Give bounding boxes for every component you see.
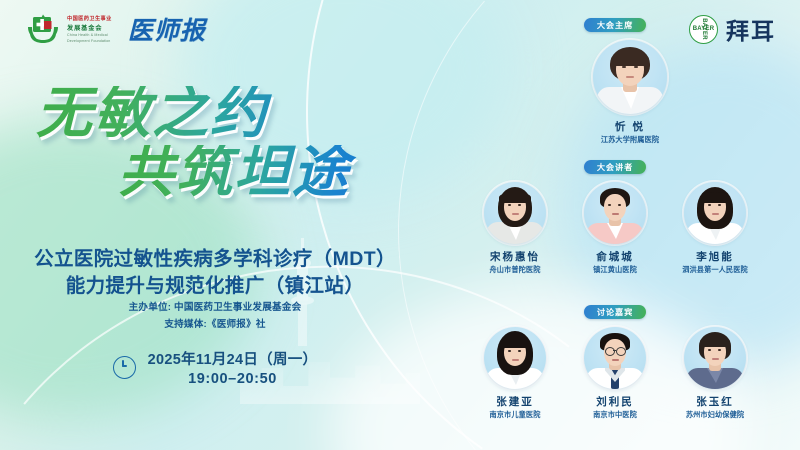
event-date: 2025年11月24日（周一） — [148, 348, 318, 369]
avatar — [584, 182, 646, 244]
group-badge-discussants: 讨论嘉宾 — [584, 305, 646, 319]
person-org: 舟山市普陀医院 — [465, 265, 565, 275]
person-org: 南京市中医院 — [565, 410, 665, 420]
avatar — [584, 327, 646, 389]
hero-title-line2: 共筑坦途 — [118, 145, 430, 200]
people-panel: 大会主席 忻 悦 江苏大学附属医院 — [430, 0, 800, 450]
foundation-logo-text: 中国医药卫生事业 发展基金会 China Health & Medical De… — [67, 15, 112, 44]
group-chair: 大会主席 忻 悦 江苏大学附属医院 — [430, 18, 800, 145]
supporting-media-text: 支持媒体:《医师报》社 — [0, 317, 430, 334]
person-card[interactable]: 张玉红 苏州市妇幼保健院 — [665, 327, 765, 420]
glasses-icon — [605, 347, 615, 356]
foundation-en-line2: Development Foundation — [67, 39, 112, 44]
hero-subtitle: 公立医院过敏性疾病多学科诊疗（MDT） 能力提升与规范化推广（镇江站） — [0, 246, 430, 300]
group-speakers: 大会讲者 宋杨惠怡 舟山市普陀医院 — [430, 160, 800, 275]
person-card[interactable]: 宋杨惠怡 舟山市普陀医院 — [465, 182, 565, 275]
person-name: 忻 悦 — [580, 119, 680, 134]
avatar — [684, 327, 746, 389]
person-org: 镇江黄山医院 — [565, 265, 665, 275]
organizer-block: 主办单位: 中国医药卫生事业发展基金会 支持媒体:《医师报》社 — [0, 300, 430, 334]
hero-title-line1: 无敏之约 — [36, 86, 430, 141]
clock-icon — [113, 356, 136, 379]
conference-poster: 中国医药卫生事业 发展基金会 China Health & Medical De… — [0, 0, 800, 450]
hero-title: 无敏之约 共筑坦途 — [0, 86, 430, 200]
avatar — [684, 182, 746, 244]
avatar — [484, 327, 546, 389]
avatar — [593, 40, 667, 114]
person-card[interactable]: 李旭能 泗洪县第一人民医院 — [665, 182, 765, 275]
person-card[interactable]: 张建亚 南京市儿童医院 — [465, 327, 565, 420]
foundation-cn-line2: 发展基金会 — [67, 23, 112, 32]
foundation-cn-line1: 中国医药卫生事业 — [67, 15, 112, 22]
foundation-en-line1: China Health & Medical — [67, 33, 112, 38]
group-badge-chair: 大会主席 — [584, 18, 646, 32]
group-badge-speakers: 大会讲者 — [584, 160, 646, 174]
person-org: 江苏大学附属医院 — [580, 135, 680, 145]
person-name: 张玉红 — [665, 394, 765, 409]
person-name: 宋杨惠怡 — [465, 249, 565, 264]
event-datetime: 2025年11月24日（周一） 19:00–20:50 — [0, 348, 430, 387]
person-card[interactable]: 俞城城 镇江黄山医院 — [565, 182, 665, 275]
person-org: 苏州市妇幼保健院 — [665, 410, 765, 420]
person-org: 南京市儿童医院 — [465, 410, 565, 420]
media-logo-text: 医师报 — [128, 11, 206, 47]
person-card[interactable]: 刘利民 南京市中医院 — [565, 327, 665, 420]
person-name: 俞城城 — [565, 249, 665, 264]
hero-subtitle-line1: 公立医院过敏性疾病多学科诊疗（MDT） — [0, 246, 430, 273]
foundation-logo: 中国医药卫生事业 发展基金会 China Health & Medical De… — [26, 11, 206, 47]
green-cross-hands-emblem — [26, 13, 60, 45]
glasses-icon — [616, 347, 626, 356]
datetime-text: 2025年11月24日（周一） 19:00–20:50 — [148, 348, 318, 387]
organizer-text: 主办单位: 中国医药卫生事业发展基金会 — [0, 300, 430, 317]
event-time: 19:00–20:50 — [148, 371, 318, 387]
person-name: 刘利民 — [565, 394, 665, 409]
hero-subtitle-line2: 能力提升与规范化推广（镇江站） — [0, 273, 430, 300]
person-name: 张建亚 — [465, 394, 565, 409]
person-org: 泗洪县第一人民医院 — [665, 265, 765, 275]
group-discussants: 讨论嘉宾 张建亚 南京市儿童医院 — [430, 305, 800, 420]
person-name: 李旭能 — [665, 249, 765, 264]
person-card[interactable]: 忻 悦 江苏大学附属医院 — [580, 40, 680, 145]
avatar — [484, 182, 546, 244]
